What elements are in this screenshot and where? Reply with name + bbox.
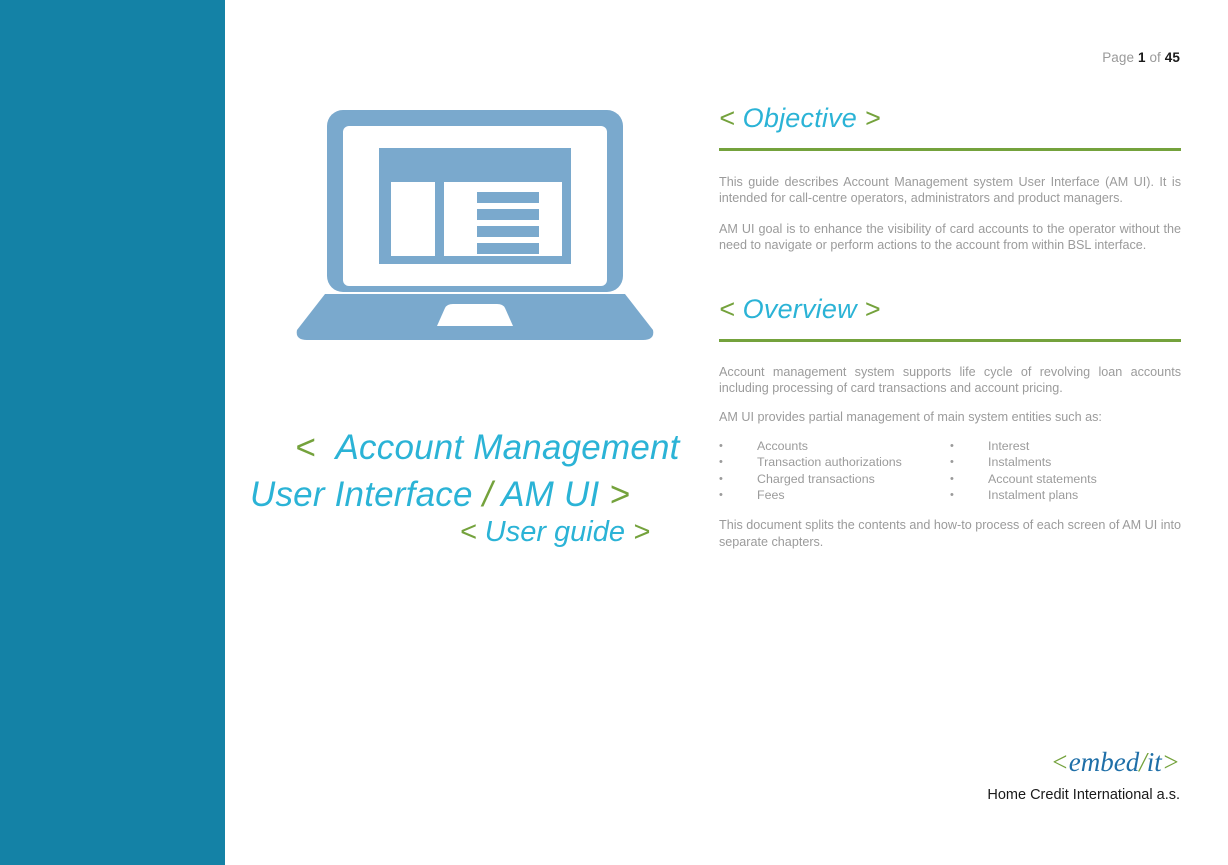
list-item: •Instalments	[950, 454, 1181, 470]
title-slash: /	[483, 475, 493, 514]
cover-title-line2b: AM UI	[501, 475, 599, 514]
cover-subtitle-text: User guide	[485, 516, 625, 548]
list-item: •Fees	[719, 487, 950, 503]
bullet-dot-icon: •	[719, 438, 729, 454]
list-item-label: Account statements	[960, 471, 1097, 487]
list-item-label: Interest	[960, 438, 1029, 454]
overview-paragraph-1: Account management system supports life …	[719, 364, 1181, 397]
title-bracket-open: <	[295, 428, 316, 467]
subtitle-bracket-open: <	[460, 516, 477, 548]
document-page: Page 1 of 45 <	[0, 0, 1228, 865]
list-item-label: Instalments	[960, 454, 1051, 470]
list-item-label: Charged transactions	[729, 471, 875, 487]
content-column: < Objective > This guide describes Accou…	[719, 0, 1181, 550]
logo-it-text: it	[1147, 747, 1162, 777]
logo-bracket-close: >	[1162, 747, 1180, 777]
entities-bullet-list: •Accounts •Transaction authorizations •C…	[719, 438, 1181, 504]
logo-slash: /	[1139, 747, 1147, 777]
objective-paragraph-2: AM UI goal is to enhance the visibility …	[719, 221, 1181, 254]
list-item: •Charged transactions	[719, 471, 950, 487]
section-heading-objective-text: Objective	[743, 103, 857, 133]
section-heading-objective: < Objective >	[719, 103, 1181, 134]
heading-bracket-close: >	[865, 103, 881, 133]
list-item-label: Accounts	[729, 438, 808, 454]
subtitle-bracket-close: >	[633, 516, 650, 548]
bullet-dot-icon: •	[719, 487, 729, 503]
bullet-dot-icon: •	[950, 471, 960, 487]
bullet-dot-icon: •	[719, 454, 729, 470]
bullet-dot-icon: •	[950, 438, 960, 454]
heading-bracket-open: <	[719, 294, 735, 324]
bullet-dot-icon: •	[719, 471, 729, 487]
laptop-illustration	[295, 108, 655, 343]
list-item: •Transaction authorizations	[719, 454, 950, 470]
objective-paragraph-1: This guide describes Account Management …	[719, 174, 1181, 207]
bullet-dot-icon: •	[950, 454, 960, 470]
heading-bracket-open: <	[719, 103, 735, 133]
list-item-label: Transaction authorizations	[729, 454, 902, 470]
title-bracket-close: >	[609, 475, 630, 514]
company-name: Home Credit International a.s.	[987, 787, 1180, 803]
logo-bracket-open: <	[1051, 747, 1069, 777]
list-item: •Interest	[950, 438, 1181, 454]
section-heading-overview-text: Overview	[743, 294, 857, 324]
cover-title-line2: User Interface	[250, 475, 473, 514]
bullet-column-right: •Interest •Instalments •Account statemen…	[950, 438, 1181, 504]
cover-subtitle: < User guide >	[250, 516, 650, 549]
left-color-band	[0, 0, 225, 865]
overview-paragraph-2: AM UI provides partial management of mai…	[719, 409, 1181, 425]
section-heading-overview: < Overview >	[719, 294, 1181, 325]
cover-title-line1: Account Management	[336, 428, 680, 467]
logo-embed-text: embed	[1069, 747, 1139, 777]
bullet-column-left: •Accounts •Transaction authorizations •C…	[719, 438, 950, 504]
list-item: •Accounts	[719, 438, 950, 454]
list-item-label: Instalment plans	[960, 487, 1078, 503]
list-item: •Instalment plans	[950, 487, 1181, 503]
bullet-dot-icon: •	[950, 487, 960, 503]
heading-bracket-close: >	[865, 294, 881, 324]
overview-paragraph-3: This document splits the contents and ho…	[719, 517, 1181, 550]
cover-title: < Account Management User Interface / AM…	[250, 424, 650, 518]
list-item-label: Fees	[729, 487, 785, 503]
footer: <embed/it> Home Credit International a.s…	[987, 747, 1180, 803]
list-item: •Account statements	[950, 471, 1181, 487]
embedit-logo: <embed/it>	[987, 747, 1180, 778]
